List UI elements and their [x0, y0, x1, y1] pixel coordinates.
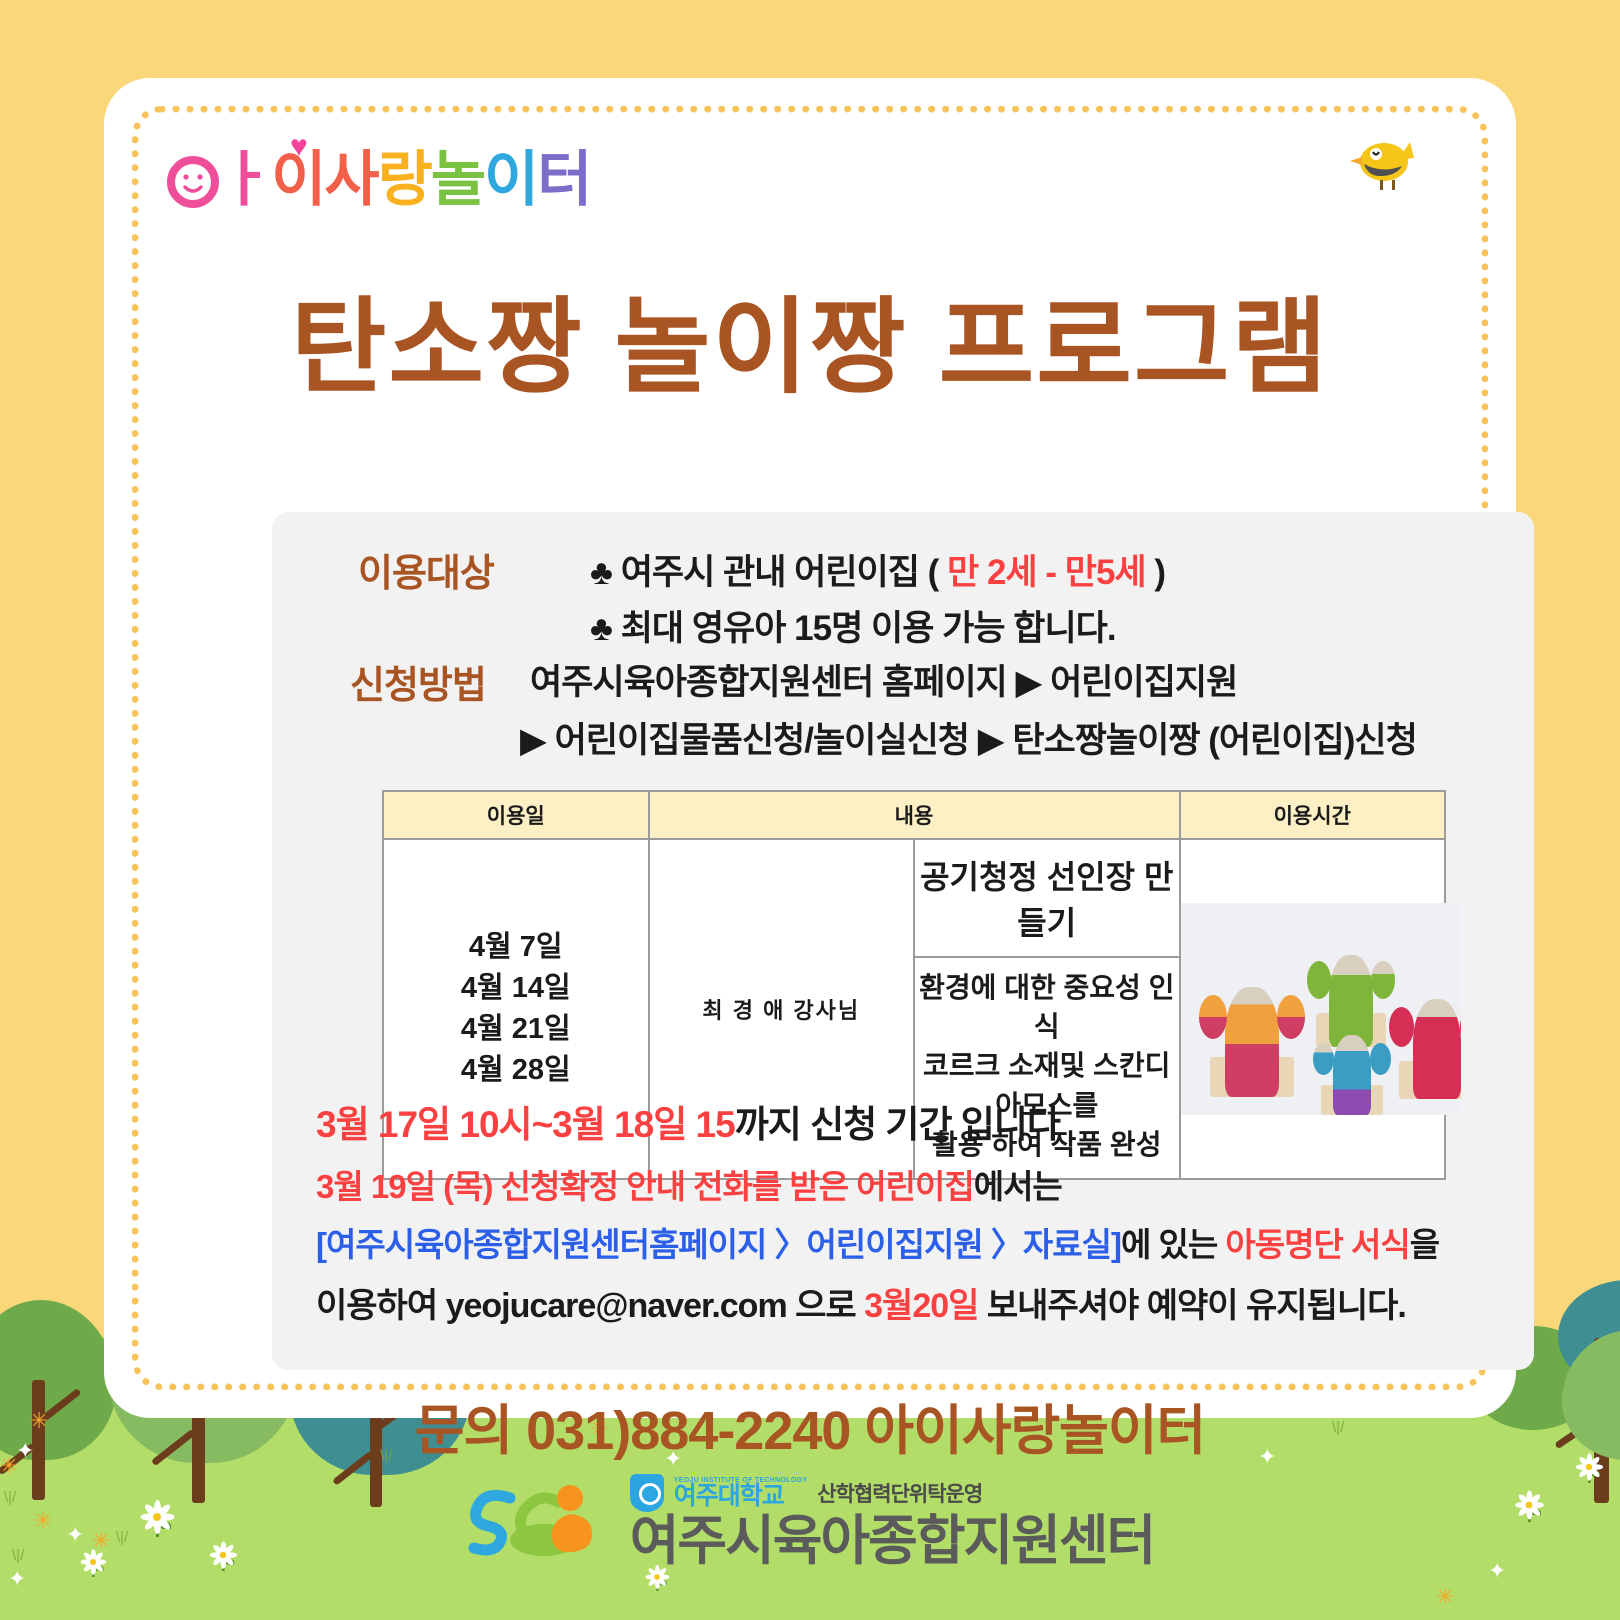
target-line1-prefix: ♣ 여주시 관내 어린이집 ( — [590, 553, 947, 592]
cell-photo — [1180, 839, 1446, 1179]
date-item: 4월 28일 — [384, 1050, 648, 1091]
target-line1-suffix: ) — [1146, 553, 1165, 592]
page-title: 탄소짱 놀이짱 프로그램 — [104, 296, 1516, 400]
notice-period-red: 3월 17일 10시~3월 18일 15 — [316, 1104, 735, 1145]
target-label: 이용대상 — [358, 542, 494, 597]
notice-period-black: 까지 신청 기간 입니다 — [735, 1104, 1060, 1145]
tree-crown-icon — [0, 1300, 116, 1460]
target-line-2: ♣ 최대 영유아 15명 이용 가능 합니다. — [590, 600, 1116, 651]
notice-path-blue[interactable]: [여주시육아종합지원센터홈페이지 〉어린이집지원 〉자료실] — [316, 1226, 1121, 1263]
notice-confirm: 3월 19일 (목) 신청확정 안내 전화를 받은 어린이집에서는 — [316, 1160, 1062, 1208]
notice-path-black2: 을 — [1410, 1226, 1439, 1263]
date-item: 4월 7일 — [384, 927, 648, 968]
bird-icon — [1340, 130, 1420, 196]
logo-char-i2: 이 — [484, 150, 537, 210]
contact-line: 문의 031)884-2240 아이사랑놀이터 — [104, 1386, 1516, 1465]
cactus-blue — [1311, 1015, 1393, 1115]
apply-label: 신청방법 — [350, 654, 486, 709]
table-header-content: 내용 — [649, 791, 1180, 839]
poster-root: ✳ ✦ ✳ ✳ ✦ ✳ ✦ ✦ ✳ ✦ ✦ ✳ ✦ \|/ \|/ \|/ \|… — [0, 0, 1620, 1620]
logo-char-rang: 랑 — [378, 150, 431, 210]
info-panel: 이용대상 ♣ 여주시 관내 어린이집 ( 만 2세 - 만5세 ) ♣ 최대 영… — [272, 512, 1534, 1370]
logo-char-sa: 사 — [324, 150, 377, 210]
smiley-face-icon — [164, 146, 222, 210]
cactus-red — [1387, 973, 1461, 1099]
poster-card: ㅏ 이 사 랑 놀 이 터 ♥ 탄소짱 놀이짱 프로그램 이용대상 ♣ 여주시 … — [104, 78, 1516, 1418]
table-header-date: 이용일 — [383, 791, 649, 839]
sc-logo-icon — [466, 1478, 616, 1564]
notice-confirm-black: 에서는 — [974, 1168, 1062, 1205]
notice-form-red: 아동명단 서식 — [1225, 1226, 1409, 1263]
sparkle-icon: ✦ — [16, 1440, 34, 1462]
notice-email-black2: 보내주셔야 예약이 유지됩니다. — [978, 1287, 1405, 1325]
heart-icon: ♥ — [290, 130, 308, 164]
date-item: 4월 21일 — [384, 1009, 648, 1050]
university-shield-icon — [630, 1474, 664, 1512]
logo-char-teo: 터 — [537, 150, 590, 210]
target-age-highlight: 만 2세 - 만5세 — [947, 553, 1146, 592]
center-name: 여주시육아종합지원센터 — [630, 1514, 1154, 1568]
notice-email: 이용하여 yeojucare@naver.com 으로 3월20일 보내주셔야 … — [316, 1278, 1406, 1327]
table-row: 4월 7일 4월 14일 4월 21일 4월 28일 최 경 애 강사님 공기청… — [383, 839, 1445, 957]
notice-path-black1: 에 있는 — [1121, 1226, 1225, 1263]
cactus-orange — [1197, 959, 1307, 1097]
logo-char-a: ㅏ — [218, 150, 271, 210]
table-header-time: 이용시간 — [1180, 791, 1446, 839]
footer: YEOJU INSTITUTE OF TECHNOLOGY 여주대학교 산학협력… — [0, 1474, 1620, 1568]
footer-university-row: YEOJU INSTITUTE OF TECHNOLOGY 여주대학교 산학협력… — [630, 1474, 1154, 1512]
cork-cactus-craft-photo — [1181, 903, 1461, 1115]
brand-logo: ㅏ 이 사 랑 놀 이 터 ♥ — [164, 138, 590, 210]
university-name-korean: 여주대학교 — [674, 1484, 808, 1509]
target-line-1: ♣ 여주시 관내 어린이집 ( 만 2세 - 만5세 ) — [590, 544, 1165, 595]
date-item: 4월 14일 — [384, 968, 648, 1009]
notice-period: 3월 17일 10시~3월 18일 15까지 신청 기간 입니다 — [316, 1094, 1060, 1148]
sparkle-icon: ✳ — [30, 1410, 48, 1432]
notice-deadline-red: 3월20일 — [864, 1287, 978, 1325]
sparkle-icon: ✦ — [8, 1568, 26, 1590]
operation-note: 산학협력단위탁운영 — [817, 1478, 982, 1508]
tree-crown-icon — [1562, 1330, 1620, 1460]
notice-email-black1: 이용하여 yeojucare@naver.com 으로 — [316, 1287, 864, 1325]
table-header-row: 이용일 내용 이용시간 — [383, 791, 1445, 839]
sparkle-icon: ✳ — [1436, 1586, 1454, 1608]
logo-char-nol: 놀 — [431, 150, 484, 210]
notice-form-path: [여주시육아종합지원센터홈페이지 〉어린이집지원 〉자료실]에 있는 아동명단 … — [316, 1218, 1439, 1266]
cell-topic: 공기청정 선인장 만들기 — [914, 839, 1180, 957]
apply-line-1: 여주시육아종합지원센터 홈페이지 ▶ 어린이집지원 — [530, 654, 1237, 705]
desc-line: 환경에 대한 중요성 인식 — [915, 968, 1179, 1046]
notice-confirm-red: 3월 19일 (목) 신청확정 안내 전화를 받은 어린이집 — [316, 1168, 974, 1205]
apply-line-2: ▶ 어린이집물품신청/놀이실신청 ▶ 탄소짱놀이짱 (어린이집)신청 — [520, 712, 1417, 763]
